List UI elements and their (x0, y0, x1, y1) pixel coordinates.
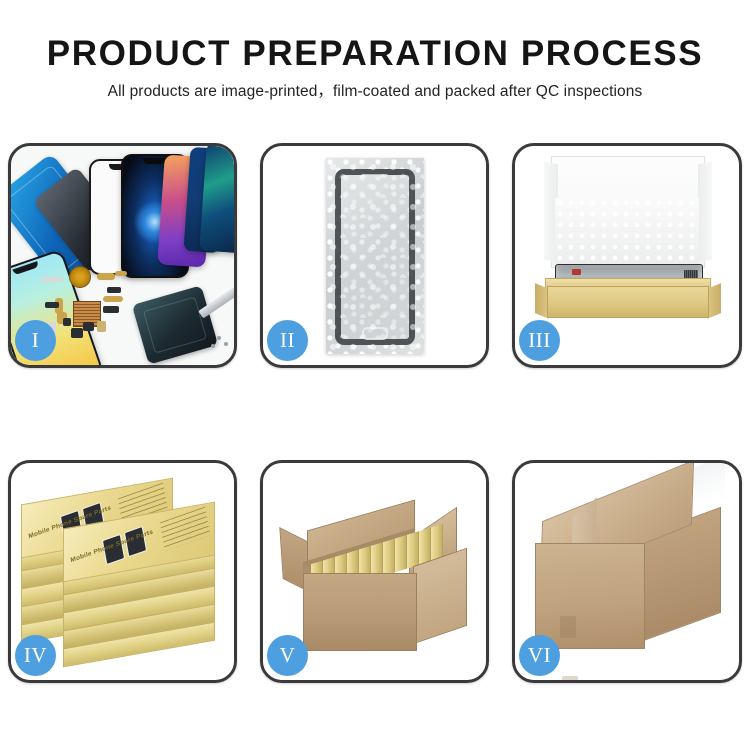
small-part (63, 318, 71, 326)
step-badge-6: VI (519, 635, 560, 676)
small-part (97, 321, 106, 332)
screw-part (217, 336, 221, 340)
foam-liner (555, 198, 699, 264)
small-part (103, 306, 119, 313)
step-badge-1: I (15, 320, 56, 361)
small-part (97, 273, 115, 280)
carton-seam-mark (560, 616, 576, 638)
steps-grid: I II (8, 143, 742, 683)
content-box (395, 535, 407, 573)
carton-side-panel (413, 548, 467, 645)
panel-frame-6: VI (512, 460, 742, 683)
bubble-wrapped-screen (326, 158, 424, 354)
screw-part (224, 342, 228, 346)
product-preparation-infographic: PRODUCT PREPARATION PROCESS All products… (0, 0, 750, 750)
step-badge-2: II (267, 320, 308, 361)
panel-frame-4: Mobile Phone Spare Parts Mobile Phone (8, 460, 237, 683)
content-box (383, 538, 395, 576)
carton-front-panel (535, 543, 645, 649)
phone-teal (199, 146, 234, 253)
sealed-shipping-carton (535, 491, 725, 661)
screw-part (211, 344, 215, 348)
box-front-panel (547, 286, 709, 318)
small-part (71, 328, 83, 338)
small-part (41, 277, 63, 282)
header: PRODUCT PREPARATION PROCESS All products… (0, 0, 750, 100)
carton-front-panel (303, 573, 417, 651)
panel-frame-3: III (512, 143, 742, 368)
phone-back-housing (132, 285, 218, 364)
panel-frame-2: II (260, 143, 489, 368)
label-red (572, 269, 581, 275)
small-part (45, 302, 59, 308)
box-right-side (707, 283, 721, 319)
step-panel-3[interactable]: III (512, 143, 742, 368)
step-badge-5: V (267, 635, 308, 676)
carton-seam-mark (562, 676, 578, 680)
page-subtitle: All products are image-printed，film-coat… (0, 84, 750, 100)
small-part (107, 287, 121, 293)
open-shipping-carton (285, 501, 467, 651)
small-part (83, 322, 94, 331)
step-panel-4[interactable]: Mobile Phone Spare Parts Mobile Phone (8, 460, 237, 683)
small-part (115, 271, 127, 276)
step-panel-2[interactable]: II (260, 143, 489, 368)
box-stack: Mobile Phone Spare Parts Mobile Phone (19, 485, 219, 665)
step-badge-4: IV (15, 635, 56, 676)
step-panel-5[interactable]: V (260, 460, 489, 683)
speaker-part (69, 266, 91, 288)
panel-frame-1: I (8, 143, 237, 368)
screen-outline (335, 169, 415, 345)
panel-frame-5: V (260, 460, 489, 683)
step-panel-1[interactable]: I (8, 143, 237, 368)
earpiece-slot (362, 174, 388, 177)
page-title: PRODUCT PREPARATION PROCESS (0, 36, 750, 71)
step-panel-6[interactable]: VI (512, 460, 742, 683)
small-part (103, 296, 123, 302)
content-box (407, 531, 419, 569)
step-badge-3: III (519, 320, 560, 361)
spec-text-lines (160, 507, 211, 552)
